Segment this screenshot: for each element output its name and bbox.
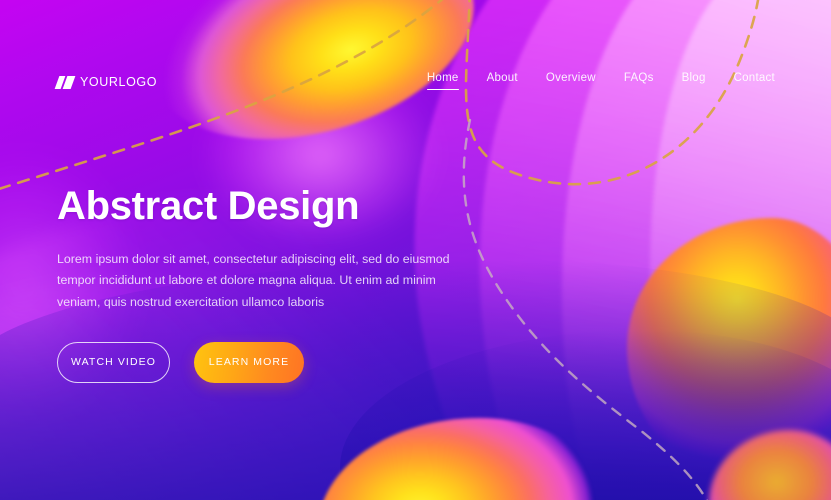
watch-video-button[interactable]: WATCH VIDEO — [57, 342, 170, 383]
nav-item-overview[interactable]: Overview — [546, 72, 596, 90]
hero-landing-page: YOURLOGO Home About Overview FAQs Blog C… — [0, 0, 831, 500]
main-navigation: Home About Overview FAQs Blog Contact — [427, 72, 775, 90]
hero-title: Abstract Design — [57, 185, 517, 227]
nav-item-contact[interactable]: Contact — [734, 72, 775, 90]
hero-section: Abstract Design Lorem ipsum dolor sit am… — [57, 185, 517, 383]
nav-item-faqs[interactable]: FAQs — [624, 72, 654, 90]
nav-item-about[interactable]: About — [487, 72, 518, 90]
brand-logo[interactable]: YOURLOGO — [57, 72, 157, 92]
nav-item-blog[interactable]: Blog — [682, 72, 706, 90]
hero-description: Lorem ipsum dolor sit amet, consectetur … — [57, 249, 467, 313]
nav-item-home[interactable]: Home — [427, 72, 459, 90]
hero-cta-row: WATCH VIDEO LEARN MORE — [57, 342, 517, 383]
learn-more-button[interactable]: LEARN MORE — [194, 342, 304, 383]
brand-logo-text: YOURLOGO — [80, 75, 157, 89]
site-header: YOURLOGO Home About Overview FAQs Blog C… — [0, 0, 831, 160]
double-slash-icon — [57, 76, 73, 89]
